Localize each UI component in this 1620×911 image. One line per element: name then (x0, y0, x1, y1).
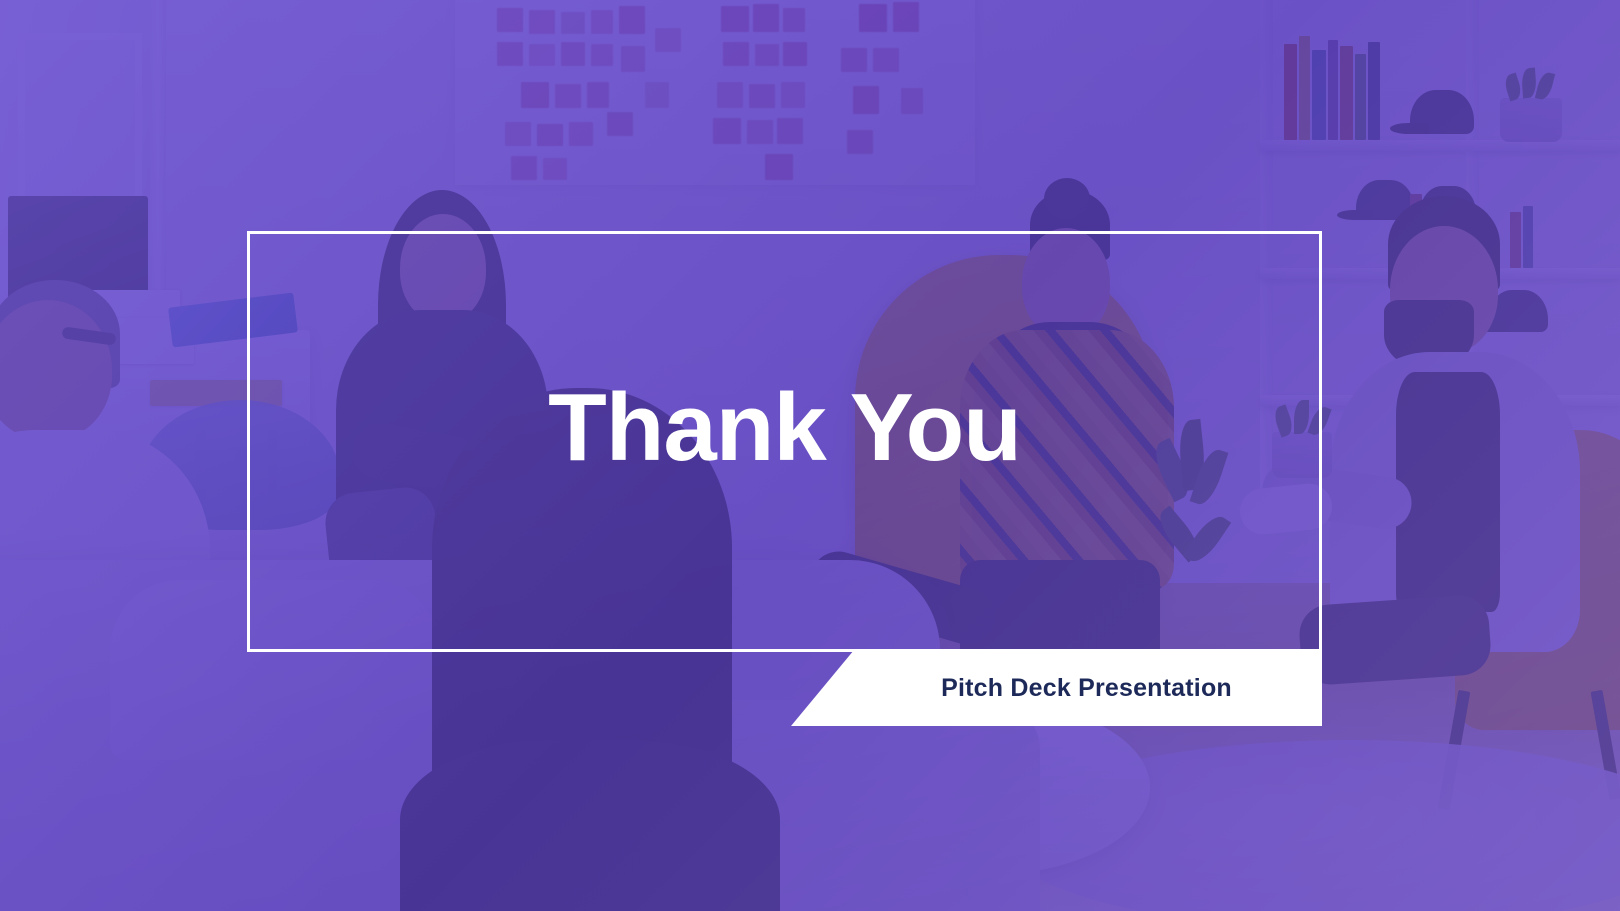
presentation-slide: Thank You Pitch Deck Presentation (0, 0, 1620, 911)
subtitle-banner: Pitch Deck Presentation (791, 650, 1322, 726)
subtitle-text: Pitch Deck Presentation (941, 674, 1232, 703)
page-title: Thank You (247, 380, 1322, 476)
